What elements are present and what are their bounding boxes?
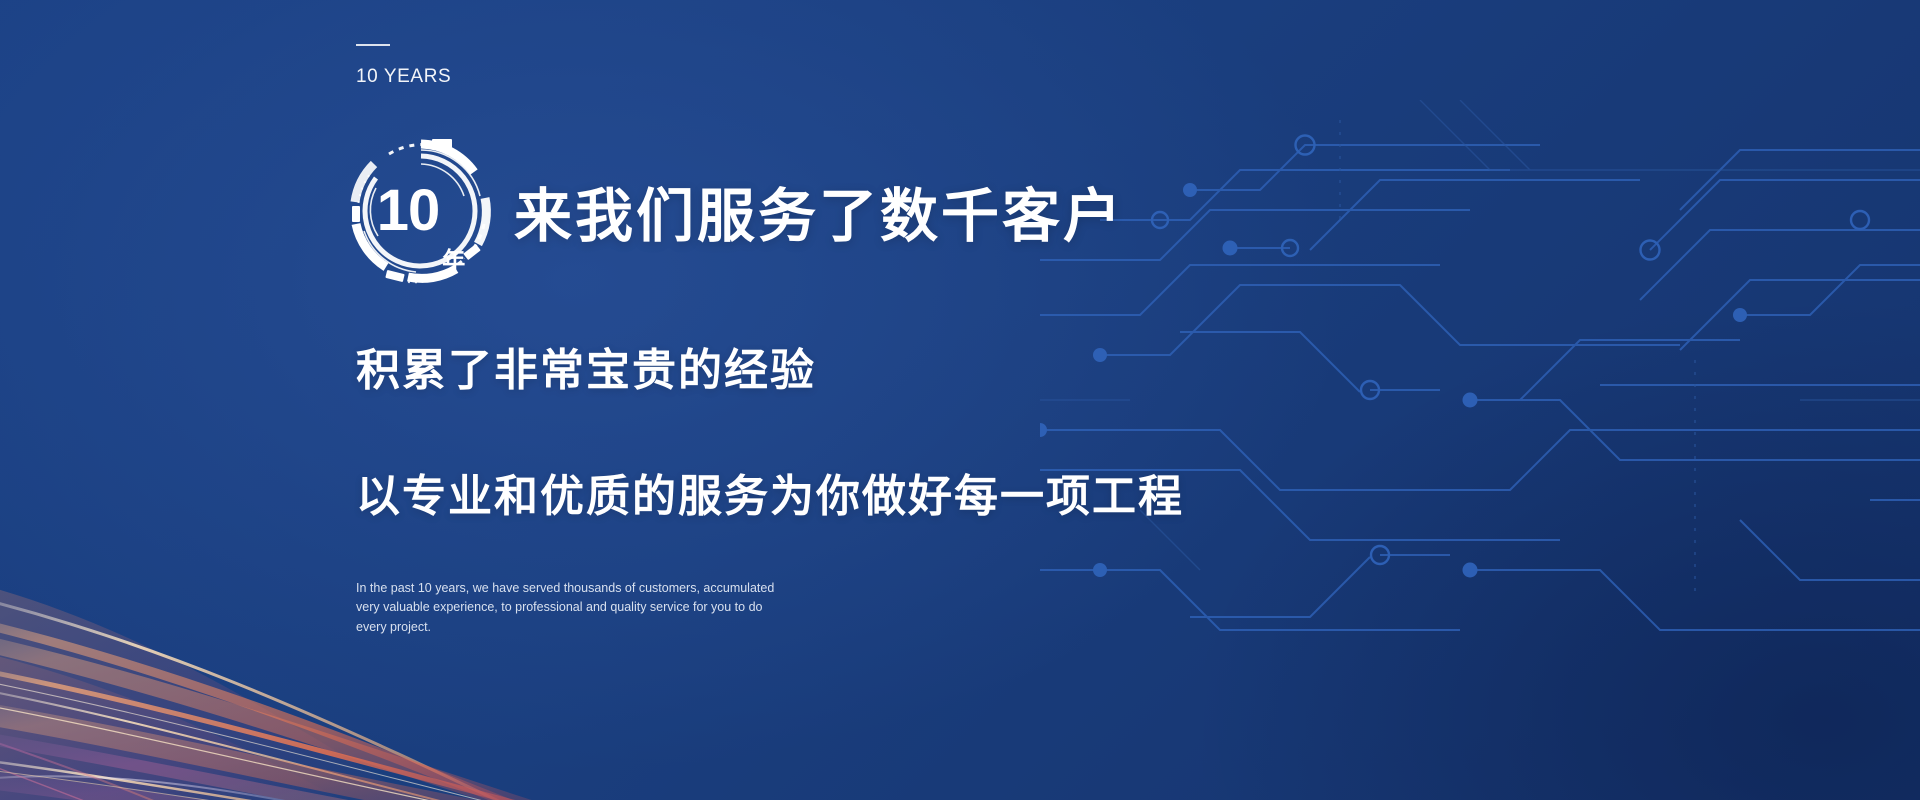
banner-content: 10 YEARS — [356, 0, 1456, 800]
headline-line-2: 积累了非常宝贵的经验 — [356, 334, 1456, 398]
badge-text-group: 10 年 — [346, 136, 496, 286]
headline-line-3: 以专业和优质的服务为你做好每一项工程 — [356, 460, 1456, 524]
tech-ring-badge: 10 年 — [346, 136, 496, 286]
eyebrow-divider — [356, 44, 390, 46]
badge-number: 10 — [377, 182, 440, 240]
promo-banner: 10 YEARS — [0, 0, 1920, 800]
description-paragraph: In the past 10 years, we have served tho… — [356, 579, 786, 637]
eyebrow-label: 10 YEARS — [356, 66, 1456, 88]
headline-row: 10 年 来我们服务了数千客户 — [356, 136, 1456, 286]
headline-main: 来我们服务了数千客户 — [514, 169, 1124, 253]
badge-unit: 年 — [442, 249, 465, 272]
